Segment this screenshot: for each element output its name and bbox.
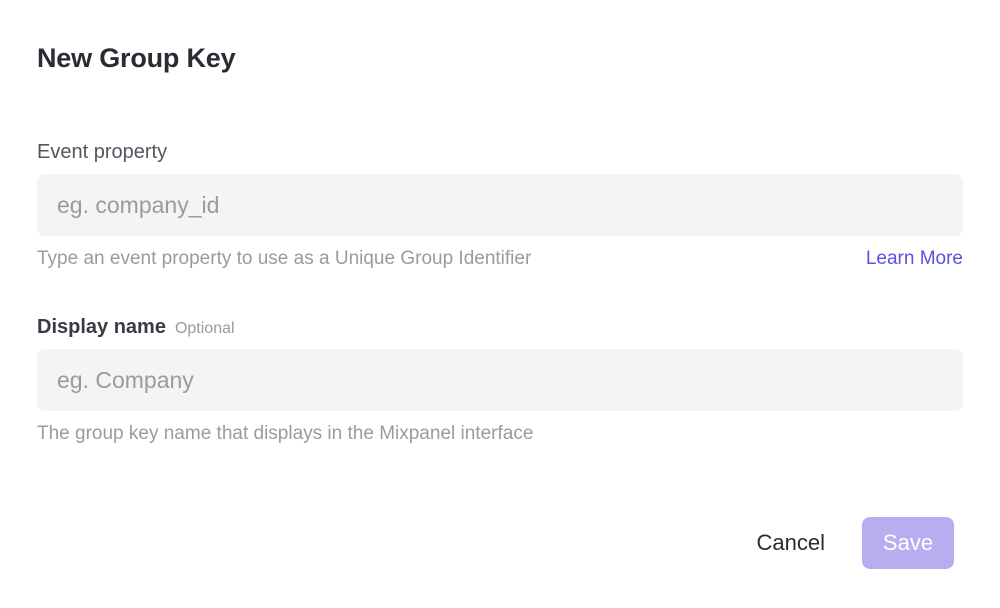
display-name-helper-row: The group key name that displays in the … bbox=[37, 422, 963, 446]
page-title: New Group Key bbox=[37, 41, 235, 75]
display-name-label-row: Display name Optional bbox=[37, 315, 963, 339]
field-event-property: Event property Type an event property to… bbox=[37, 140, 963, 271]
cancel-button[interactable]: Cancel bbox=[757, 529, 825, 557]
field-display-name: Display name Optional The group key name… bbox=[37, 315, 963, 446]
form-body: Event property Type an event property to… bbox=[37, 140, 963, 446]
new-group-key-dialog: New Group Key Event property Type an eve… bbox=[0, 0, 1000, 608]
display-name-input[interactable] bbox=[37, 349, 963, 411]
display-name-optional-tag: Optional bbox=[175, 319, 235, 339]
display-name-helper-text: The group key name that displays in the … bbox=[37, 422, 533, 446]
save-button[interactable]: Save bbox=[862, 517, 954, 569]
event-property-helper-row: Type an event property to use as a Uniqu… bbox=[37, 247, 963, 271]
event-property-input[interactable] bbox=[37, 174, 963, 236]
field-spacer bbox=[37, 271, 963, 315]
event-property-helper-text: Type an event property to use as a Uniqu… bbox=[37, 247, 531, 271]
event-property-label: Event property bbox=[37, 140, 167, 164]
learn-more-link[interactable]: Learn More bbox=[866, 247, 963, 271]
display-name-label: Display name bbox=[37, 315, 166, 339]
event-property-label-row: Event property bbox=[37, 140, 963, 164]
dialog-footer: Cancel Save bbox=[757, 517, 954, 569]
